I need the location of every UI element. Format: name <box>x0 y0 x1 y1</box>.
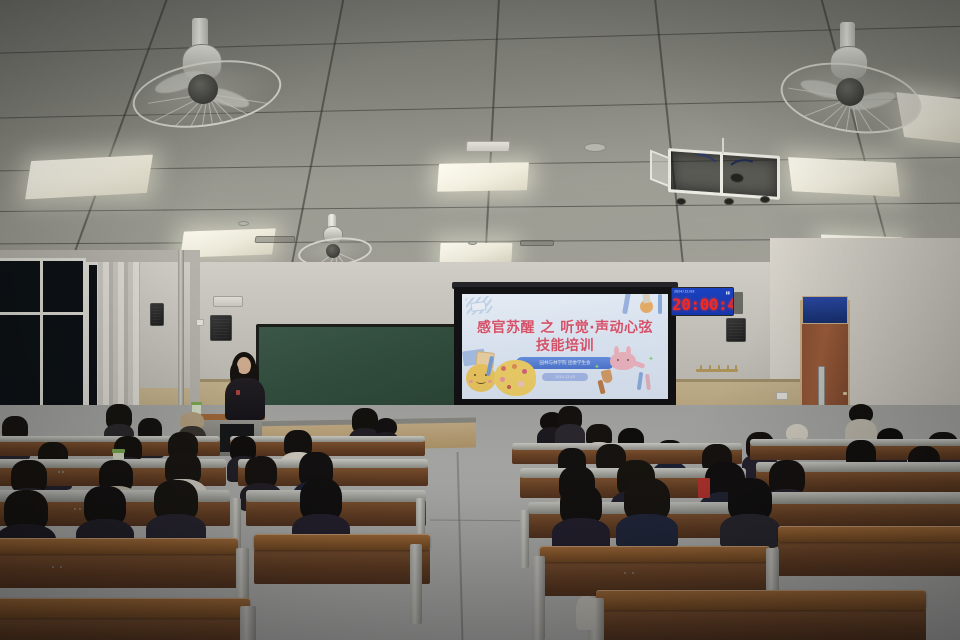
coat-hook[interactable] <box>709 365 711 372</box>
hatched-corner-decoration <box>471 301 487 312</box>
wall-speaker <box>150 303 164 326</box>
coat-hook[interactable] <box>718 365 720 372</box>
pencil-sticker <box>658 294 662 314</box>
window-mullion <box>0 312 86 315</box>
lecture-hall-photo: 感官苏醒 之 听觉·声动心弦 技能培训 园林与林学院 团委学生会 2024.12… <box>0 0 960 640</box>
slide-date-pill: 2024.12.03 <box>542 373 588 381</box>
presenter <box>222 352 268 418</box>
door-handle[interactable] <box>843 392 847 395</box>
coat-hook[interactable] <box>727 365 729 372</box>
door-transom-window <box>802 296 848 324</box>
bench-leg <box>410 544 422 624</box>
wall-outlet <box>776 392 788 400</box>
recessed-panel-light <box>437 162 529 192</box>
slide-title-line1: 感官苏醒 之 听觉·声动心弦 <box>462 317 668 337</box>
ceiling-vent <box>255 236 296 243</box>
bench-desk <box>596 608 926 640</box>
smoke-detector <box>238 221 249 226</box>
bench-desk-top <box>254 534 430 550</box>
student <box>620 478 674 538</box>
coat-hook[interactable] <box>700 365 702 372</box>
medal-ribbon <box>642 294 650 303</box>
chalkboard <box>259 327 465 413</box>
wall-mounted-unit <box>213 296 243 307</box>
pencil-sticker <box>622 294 631 314</box>
clock-wall-mount <box>734 292 743 314</box>
smoke-detector <box>584 143 606 152</box>
led-clock-screen: 2024/12/03 ▮▮ 20:00:47 <box>672 288 733 315</box>
wall-outlet <box>196 319 204 326</box>
ceiling-speaker-dome <box>676 198 686 205</box>
pencil-sticker <box>637 372 643 390</box>
presentation-slide: 感官苏醒 之 听觉·声动心弦 技能培训 园林与林学院 团委学生会 2024.12… <box>462 294 668 399</box>
bench-leg <box>532 556 545 640</box>
bench-desk <box>0 552 238 588</box>
bench-desk-top <box>762 492 960 504</box>
ceiling-fan <box>776 22 926 144</box>
student <box>80 486 130 544</box>
ceiling-fan <box>126 18 286 138</box>
smoke-detector <box>468 241 477 245</box>
recessed-panel-light <box>788 157 900 197</box>
ceiling-vent <box>520 240 554 246</box>
coat-hook[interactable] <box>735 365 737 372</box>
ceiling-speaker-dome <box>760 196 770 203</box>
chalkboard-frame <box>256 324 468 416</box>
student <box>724 478 776 540</box>
pencil-sticker <box>645 374 651 390</box>
bench-desk-rail <box>230 436 425 442</box>
red-bag <box>698 478 710 498</box>
student <box>104 404 134 440</box>
recessed-panel-light <box>440 243 513 262</box>
student <box>150 480 202 540</box>
coat-hook-rail <box>696 369 738 372</box>
bench-desk <box>762 502 960 528</box>
bench-desk-top <box>778 526 960 542</box>
student <box>556 406 584 444</box>
sparkle-decoration: ✦ <box>648 356 654 363</box>
bench-leg <box>520 510 529 568</box>
bench-desk-top <box>540 546 770 562</box>
bench-desk <box>0 616 250 640</box>
sparkle-decoration: ✦ <box>594 364 600 371</box>
recessed-panel-light <box>25 155 153 200</box>
bench-desk-top <box>0 538 238 554</box>
wall-speaker <box>726 318 746 342</box>
cup-lid <box>191 402 202 405</box>
bench-desk-top <box>0 598 250 618</box>
paint-palette-sticker <box>494 360 536 396</box>
student <box>846 404 876 444</box>
white-bag <box>576 596 596 630</box>
wall-speaker <box>210 315 232 341</box>
projector-cage <box>668 148 780 200</box>
bench-desk <box>778 540 960 576</box>
led-clock-time: 20:00:47 <box>672 295 733 314</box>
student <box>556 484 606 542</box>
student <box>296 478 346 540</box>
ceiling-speaker-dome <box>724 198 734 205</box>
ceiling-fan <box>292 218 294 220</box>
bench-desk <box>254 548 430 584</box>
bunny-arm <box>632 360 646 369</box>
led-clock-date: 2024/12/03 <box>674 289 694 293</box>
bench-leg <box>240 606 256 640</box>
cup-lid <box>112 449 125 453</box>
air-conditioner-unit <box>466 141 511 152</box>
ceiling-fan <box>296 214 374 268</box>
led-clock: 2024/12/03 ▮▮ 20:00:47 <box>671 287 734 316</box>
bench-desk-top <box>596 590 926 610</box>
